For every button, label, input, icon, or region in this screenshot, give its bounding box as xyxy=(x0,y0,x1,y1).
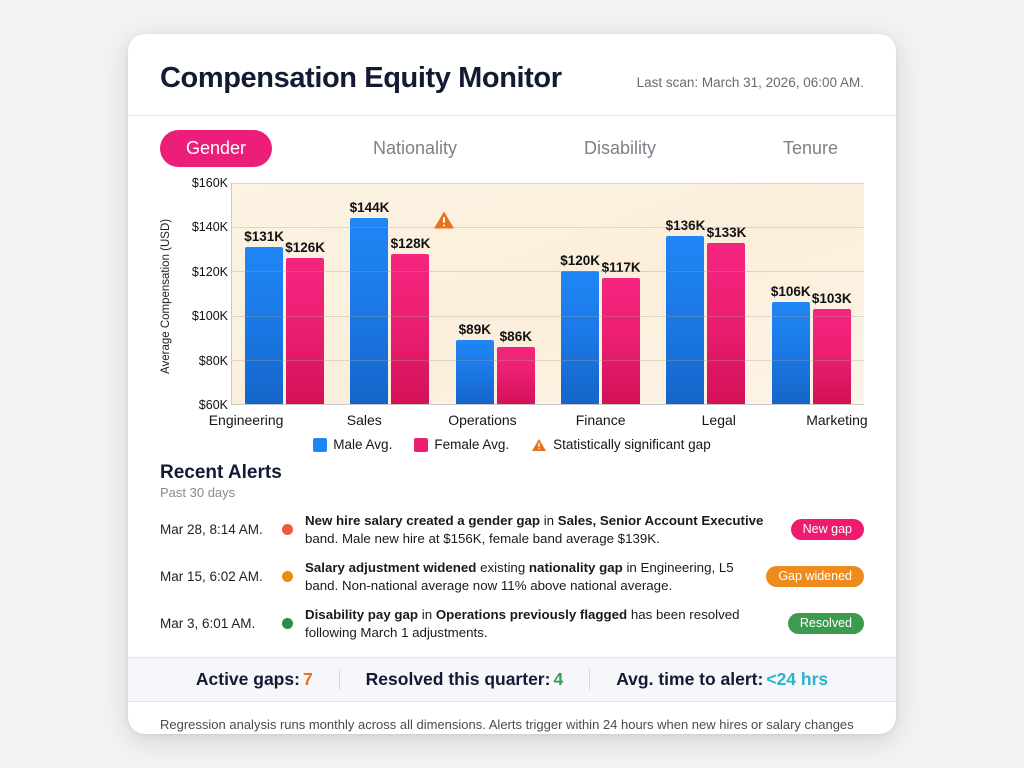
summary-stat-label: Avg. time to alert: xyxy=(616,669,763,689)
y-axis-ticks: $160K$140K$120K$100K$80K$60K xyxy=(174,183,228,405)
legend-label: Statistically significant gap xyxy=(553,437,711,452)
gridline xyxy=(232,227,864,228)
bar-male[interactable]: $89K xyxy=(456,340,494,404)
alert-severity-dot xyxy=(282,571,293,582)
alert-timestamp: Mar 3, 6:01 AM. xyxy=(160,616,282,631)
bar-value-label: $106K xyxy=(771,284,811,299)
summary-stats-bar: Active gaps:7Resolved this quarter:4Avg.… xyxy=(128,657,896,702)
chart-legend: Male Avg.Female Avg.Statistically signif… xyxy=(128,437,896,452)
alerts-list: Mar 28, 8:14 AM.New hire salary created … xyxy=(160,506,864,647)
bar-value-label: $144K xyxy=(350,200,390,215)
summary-stat: Active gaps:7 xyxy=(170,669,339,690)
alert-row[interactable]: Mar 3, 6:01 AM.Disability pay gap in Ope… xyxy=(160,600,864,647)
tab-nationality[interactable]: Nationality xyxy=(347,130,483,167)
bar-male[interactable]: $144K xyxy=(350,218,388,404)
y-tick-label: $160K xyxy=(192,176,228,190)
x-axis-label: Sales xyxy=(305,412,423,428)
x-axis-label: Legal xyxy=(660,412,778,428)
summary-stat-value: 7 xyxy=(303,669,313,689)
y-tick-label: $80K xyxy=(199,354,228,368)
bar-female[interactable]: $86K xyxy=(497,347,535,404)
tab-gender[interactable]: Gender xyxy=(160,130,272,167)
recent-alerts-section: Recent Alerts Past 30 days Mar 28, 8:14 … xyxy=(128,452,896,651)
status-badge: New gap xyxy=(791,519,864,540)
y-tick-label: $120K xyxy=(192,265,228,279)
x-axis-label: Operations xyxy=(423,412,541,428)
alert-row[interactable]: Mar 28, 8:14 AM.New hire salary created … xyxy=(160,506,864,553)
x-axis-label: Engineering xyxy=(187,412,305,428)
bar-group: $106K$103K xyxy=(759,183,864,404)
x-axis-label: Marketing xyxy=(778,412,896,428)
summary-stat-value: 4 xyxy=(553,669,563,689)
chart-area: Average Compensation (USD) $160K$140K$12… xyxy=(128,177,896,407)
gridline xyxy=(232,271,864,272)
bar-female[interactable]: $117K xyxy=(602,278,640,404)
alert-severity-dot xyxy=(282,618,293,629)
alerts-title: Recent Alerts xyxy=(160,462,864,484)
alerts-subtitle: Past 30 days xyxy=(160,485,864,500)
legend-item: Statistically significant gap xyxy=(531,437,711,452)
bar-groups: $131K$126K$144K$128K$89K$86K$120K$117K$1… xyxy=(232,183,864,404)
bar-group: $144K$128K xyxy=(337,183,442,404)
bar-value-label: $136K xyxy=(666,218,706,233)
alert-description: Salary adjustment widened existing natio… xyxy=(305,559,766,594)
bar-value-label: $103K xyxy=(812,291,852,306)
bar-value-label: $86K xyxy=(500,329,532,344)
bar-group: $131K$126K xyxy=(232,183,337,404)
footer-note: Regression analysis runs monthly across … xyxy=(128,702,896,734)
summary-stat: Resolved this quarter:4 xyxy=(339,669,590,690)
alert-severity-dot xyxy=(282,524,293,535)
page-title: Compensation Equity Monitor xyxy=(160,62,562,95)
bar-group: $89K$86K xyxy=(443,183,548,404)
bar-value-label: $126K xyxy=(285,240,325,255)
legend-item: Male Avg. xyxy=(313,437,392,452)
legend-swatch xyxy=(313,438,327,452)
x-axis-labels: EngineeringSalesOperationsFinanceLegalMa… xyxy=(187,412,896,428)
gridline xyxy=(232,316,864,317)
bar-female[interactable]: $128K xyxy=(391,254,429,404)
dimension-tabs: GenderNationalityDisabilityTenure xyxy=(128,116,896,177)
gridline xyxy=(232,360,864,361)
y-tick-label: $140K xyxy=(192,220,228,234)
bar-value-label: $89K xyxy=(459,322,491,337)
alert-description: Disability pay gap in Operations previou… xyxy=(305,606,788,641)
legend-label: Female Avg. xyxy=(434,437,509,452)
bar-female[interactable]: $103K xyxy=(813,309,851,404)
bar-value-label: $120K xyxy=(560,253,600,268)
tab-disability[interactable]: Disability xyxy=(558,130,682,167)
alert-description: New hire salary created a gender gap in … xyxy=(305,512,791,547)
legend-label: Male Avg. xyxy=(333,437,392,452)
legend-swatch xyxy=(414,438,428,452)
legend-item: Female Avg. xyxy=(414,437,509,452)
summary-stat-label: Active gaps: xyxy=(196,669,300,689)
plot-area: $131K$126K$144K$128K$89K$86K$120K$117K$1… xyxy=(231,183,864,405)
summary-stat: Avg. time to alert:<24 hrs xyxy=(589,669,854,690)
bar-male[interactable]: $136K xyxy=(666,236,704,404)
x-axis-label: Finance xyxy=(542,412,660,428)
bar-male[interactable]: $106K xyxy=(772,302,810,404)
bar-group: $120K$117K xyxy=(548,183,653,404)
y-tick-label: $60K xyxy=(199,398,228,412)
last-scan-text: Last scan: March 31, 2026, 06:00 AM. xyxy=(637,75,864,90)
summary-stat-value: <24 hrs xyxy=(766,669,828,689)
tab-tenure[interactable]: Tenure xyxy=(757,130,864,167)
bar-value-label: $117K xyxy=(602,260,641,275)
bar-female[interactable]: $133K xyxy=(707,243,745,404)
bar-group: $136K$133K xyxy=(653,183,758,404)
warning-triangle-icon xyxy=(531,438,547,452)
alert-timestamp: Mar 15, 6:02 AM. xyxy=(160,569,282,584)
compensation-equity-card: Compensation Equity Monitor Last scan: M… xyxy=(128,34,896,734)
bar-male[interactable]: $120K xyxy=(561,271,599,404)
summary-stat-label: Resolved this quarter: xyxy=(366,669,551,689)
alert-row[interactable]: Mar 15, 6:02 AM.Salary adjustment widene… xyxy=(160,553,864,600)
alert-timestamp: Mar 28, 8:14 AM. xyxy=(160,522,282,537)
status-badge: Gap widened xyxy=(766,566,864,587)
status-badge: Resolved xyxy=(788,613,864,634)
y-tick-label: $100K xyxy=(192,309,228,323)
y-axis-title: Average Compensation (USD) xyxy=(160,185,172,407)
gridline xyxy=(232,183,864,184)
bar-female[interactable]: $126K xyxy=(286,258,324,404)
bar-value-label: $131K xyxy=(244,229,284,244)
bar-value-label: $128K xyxy=(391,236,431,251)
card-header: Compensation Equity Monitor Last scan: M… xyxy=(128,34,896,116)
